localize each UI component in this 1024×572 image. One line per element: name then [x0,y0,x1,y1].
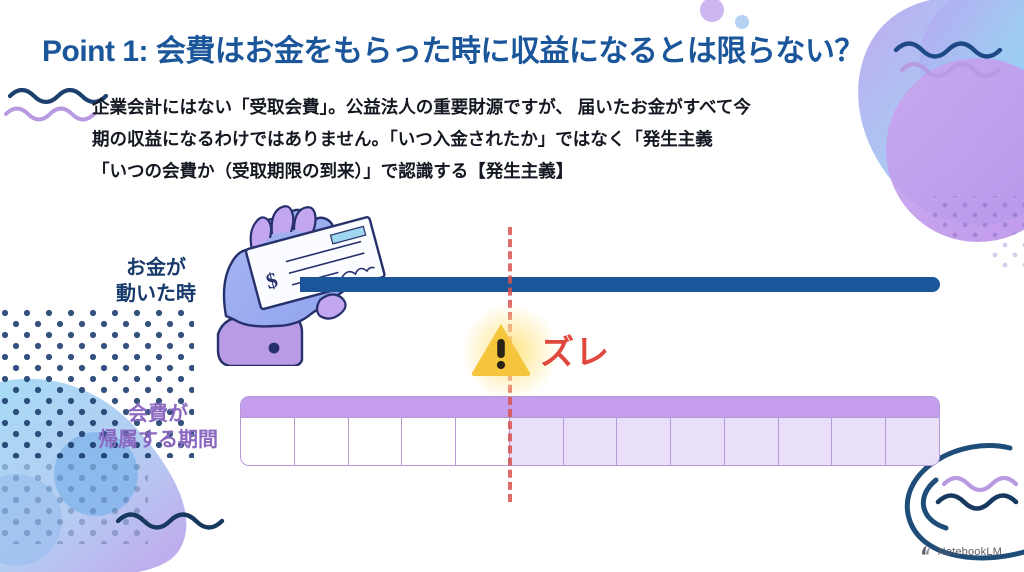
period-cell [725,418,779,465]
period-cell [295,418,349,465]
period-row-label: 会費が 帰属する期間 [68,402,248,453]
period-cell [832,418,886,465]
period-cell [241,418,295,465]
money-timeline-bar [300,277,940,292]
period-cell [564,418,618,465]
period-calendar-bar [240,396,940,466]
money-row-label-line1: お金が [126,257,186,279]
period-cell [510,418,564,465]
notebooklm-watermark: NotebookLM [920,544,1002,560]
period-row-label-line1: 会費が [128,403,188,425]
period-cell [617,418,671,465]
period-calendar-header [241,397,939,418]
period-row-label-line2: 帰属する期間 [98,429,218,451]
money-row-label-line2: 動いた時 [116,283,196,305]
period-cell [886,418,939,465]
period-cell [779,418,833,465]
timeline-diagram: お金が 動いた時 [0,0,1024,572]
period-cell [402,418,456,465]
slide-root: Point 1: 会費はお金をもらった時に収益になるとは限らない？ 企業会計には… [0,0,1024,572]
warning-triangle-icon [470,321,532,377]
period-cell [456,418,510,465]
notebooklm-label: NotebookLM [938,546,1002,558]
timing-gap-callout: ズレ [470,318,650,380]
notebooklm-logo-icon [920,544,933,560]
period-cell [671,418,725,465]
timing-gap-label: ズレ [540,325,610,374]
period-cell [349,418,403,465]
period-calendar-cells [241,418,939,465]
